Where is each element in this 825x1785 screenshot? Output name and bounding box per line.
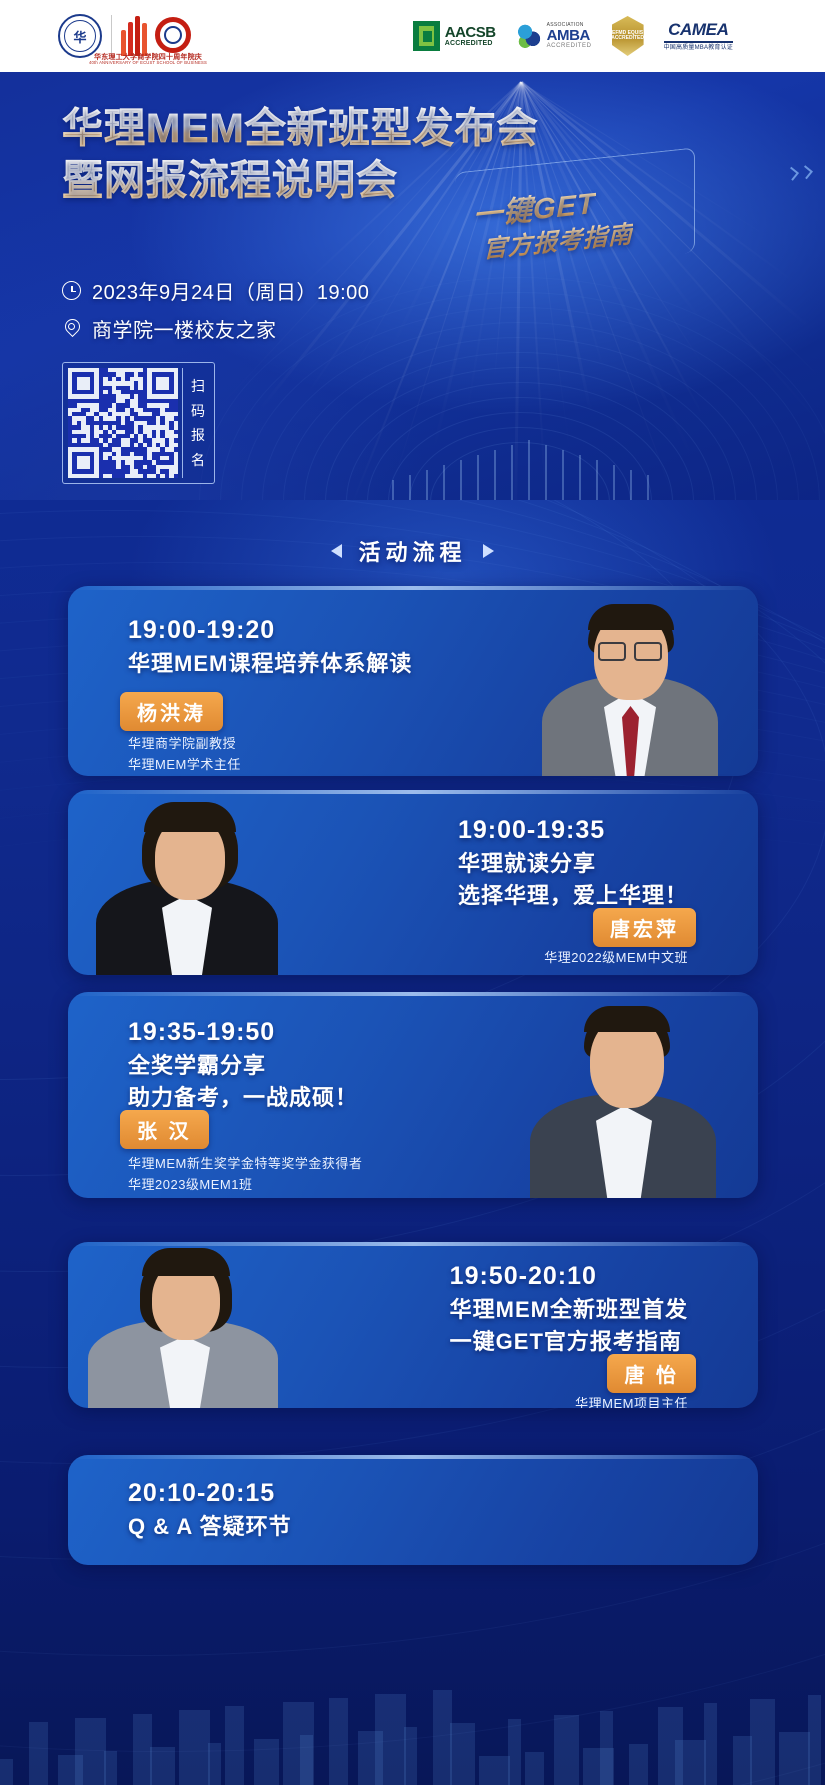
camea-name: CAMEA — [664, 21, 733, 43]
agenda-card-3-topic-1: 全奖学霸分享 — [128, 1050, 358, 1082]
agenda-card-3[interactable]: 19:35-19:50 全奖学霸分享 助力备考，一战成硕！ 张 汉 华理MEM新… — [68, 992, 758, 1198]
logo-divider — [111, 15, 112, 57]
event-venue: 商学院一楼校友之家 — [62, 314, 277, 343]
agenda-card-2-subtitle-1: 华理2022级MEM中文班 — [544, 948, 688, 969]
qr-label-char-1: 码 — [191, 404, 205, 418]
qr-code-label: 扫码报名 — [187, 368, 209, 478]
amba-icon — [516, 22, 542, 50]
agenda-card-1-text: 19:00-19:20 华理MEM课程培养体系解读 — [128, 614, 412, 680]
event-datetime: 2023年9月24日（周日）19:00 — [62, 276, 369, 305]
ecust-emblem-text: 华 — [73, 27, 86, 46]
agenda-card-3-subtitle-2: 华理2023级MEM1班 — [128, 1175, 362, 1196]
speaker-portrait-1 — [530, 586, 730, 776]
clock-icon — [62, 281, 81, 300]
agenda-card-5-time: 20:10-20:15 — [128, 1477, 292, 1511]
agenda-card-4-speaker-block: 唐 怡 — [607, 1354, 696, 1393]
qr-label-char-3: 名 — [191, 453, 205, 467]
qr-signup-box[interactable]: 扫码报名 — [62, 362, 215, 484]
school-logo-caption: 华东理工大学商学院四十周年院庆 40th ANNIVERSARY OF ECUS… — [58, 54, 238, 66]
school-caption-en: 40th ANNIVERSARY OF ECUST SCHOOL OF BUSI… — [58, 61, 238, 66]
agenda-card-2[interactable]: 19:00-19:35 华理就读分享 选择华理，爱上华理！ 唐宏萍 华理2022… — [68, 790, 758, 975]
equis-badge-text: EFMD EQUIS ACCREDITED — [611, 31, 644, 42]
event-datetime-text: 2023年9月24日（周日）19:00 — [92, 276, 369, 305]
agenda-card-4-time: 19:50-20:10 — [450, 1260, 688, 1294]
agenda-card-3-subtitles: 华理MEM新生奖学金特等奖学金获得者 华理2023级MEM1班 — [128, 1154, 362, 1196]
camea-subtitle: 中国高质量MBA教育认证 — [664, 45, 733, 52]
agenda-card-1-subtitle-2: 华理MEM学术主任 — [128, 755, 241, 776]
agenda-card-2-time: 19:00-19:35 — [458, 814, 688, 848]
agenda-card-4-subtitle-1: 华理MEM项目主任 — [575, 1394, 688, 1408]
agenda-card-5[interactable]: 20:10-20:15 Q & A 答疑环节 — [68, 1455, 758, 1565]
agenda-card-3-text: 19:35-19:50 全奖学霸分享 助力备考，一战成硕！ — [128, 1016, 358, 1114]
accreditation-logos: AACSB ACCREDITED ASSOCIATION AMBA ACCRED… — [413, 16, 733, 56]
equis-icon: EFMD EQUIS ACCREDITED — [612, 16, 644, 56]
agenda-card-1-subtitle-1: 华理商学院副教授 — [128, 734, 241, 755]
qr-label-char-2: 报 — [191, 428, 205, 442]
aacsb-logo: AACSB ACCREDITED — [413, 21, 496, 51]
amba-logo: ASSOCIATION AMBA ACCREDITED — [516, 22, 592, 50]
agenda-card-4-topic-2: 一键GET官方报考指南 — [450, 1326, 688, 1358]
triangle-right-icon — [483, 544, 494, 558]
agenda-card-2-speaker-name: 唐宏萍 — [593, 908, 696, 947]
amba-status: ACCREDITED — [547, 43, 592, 49]
chevron-decoration-icon — [787, 167, 812, 179]
agenda-card-5-topic: Q & A 答疑环节 — [128, 1511, 292, 1543]
speaker-portrait-4 — [82, 1242, 287, 1408]
poster-root: 华 华东理工大学商学院四十周年院庆 40th ANNIVERSARY OF EC… — [0, 0, 825, 1785]
ecust-emblem-icon: 华 — [58, 14, 102, 58]
qr-label-char-0: 扫 — [191, 379, 205, 393]
speaker-portrait-2 — [88, 790, 288, 975]
header-bar: 华 华东理工大学商学院四十周年院庆 40th ANNIVERSARY OF EC… — [0, 0, 825, 72]
camea-logo: CAMEA 中国高质量MBA教育认证 — [664, 21, 733, 51]
aacsb-icon — [413, 21, 440, 51]
speaker-portrait-3 — [524, 992, 724, 1198]
agenda-section-header: 活动流程 — [0, 535, 825, 567]
title-line-1: 华理MEM全新班型发布会 — [62, 102, 539, 154]
agenda-card-1-speaker-block: 杨洪涛 — [120, 692, 223, 731]
agenda-card-2-text: 19:00-19:35 华理就读分享 选择华理，爱上华理！ — [458, 814, 688, 912]
agenda-card-1[interactable]: 19:00-19:20 华理MEM课程培养体系解读 杨洪涛 华理商学院副教授 华… — [68, 586, 758, 776]
agenda-card-1-subtitles: 华理商学院副教授 华理MEM学术主任 — [128, 734, 241, 776]
agenda-card-2-subtitles: 华理2022级MEM中文班 — [544, 948, 688, 969]
agenda-card-3-subtitle-1: 华理MEM新生奖学金特等奖学金获得者 — [128, 1154, 362, 1175]
aacsb-status: ACCREDITED — [445, 40, 496, 47]
agenda-card-5-text: 20:10-20:15 Q & A 答疑环节 — [128, 1477, 292, 1543]
agenda-card-3-topic-2: 助力备考，一战成硕！ — [128, 1082, 358, 1114]
agenda-card-2-topic-2: 选择华理，爱上华理！ — [458, 880, 688, 912]
qr-code-image[interactable] — [68, 368, 178, 478]
event-venue-text: 商学院一楼校友之家 — [92, 314, 277, 343]
agenda-card-4-topic-1: 华理MEM全新班型首发 — [450, 1294, 688, 1326]
card-top-sheen — [68, 1455, 758, 1459]
agenda-card-3-time: 19:35-19:50 — [128, 1016, 358, 1050]
location-pin-icon — [62, 319, 81, 338]
agenda-card-2-speaker-block: 唐宏萍 — [593, 908, 696, 947]
agenda-section-title: 活动流程 — [358, 535, 466, 567]
agenda-card-4[interactable]: 19:50-20:10 华理MEM全新班型首发 一键GET官方报考指南 唐 怡 … — [68, 1242, 758, 1408]
agenda-card-3-speaker-name: 张 汉 — [120, 1110, 209, 1149]
agenda-card-2-topic-1: 华理就读分享 — [458, 848, 688, 880]
amba-name: AMBA — [547, 28, 592, 43]
aacsb-name: AACSB — [445, 25, 496, 40]
agenda-card-1-topic: 华理MEM课程培养体系解读 — [128, 648, 412, 680]
qr-divider — [182, 368, 183, 478]
agenda-card-4-text: 19:50-20:10 华理MEM全新班型首发 一键GET官方报考指南 — [450, 1260, 688, 1358]
triangle-left-icon — [331, 544, 342, 558]
agenda-card-4-speaker-name: 唐 怡 — [607, 1354, 696, 1393]
agenda-card-4-subtitles: 华理MEM项目主任 — [575, 1394, 688, 1408]
agenda-card-1-speaker-name: 杨洪涛 — [120, 692, 223, 731]
agenda-card-1-time: 19:00-19:20 — [128, 614, 412, 648]
agenda-card-3-speaker-block: 张 汉 — [120, 1110, 209, 1149]
